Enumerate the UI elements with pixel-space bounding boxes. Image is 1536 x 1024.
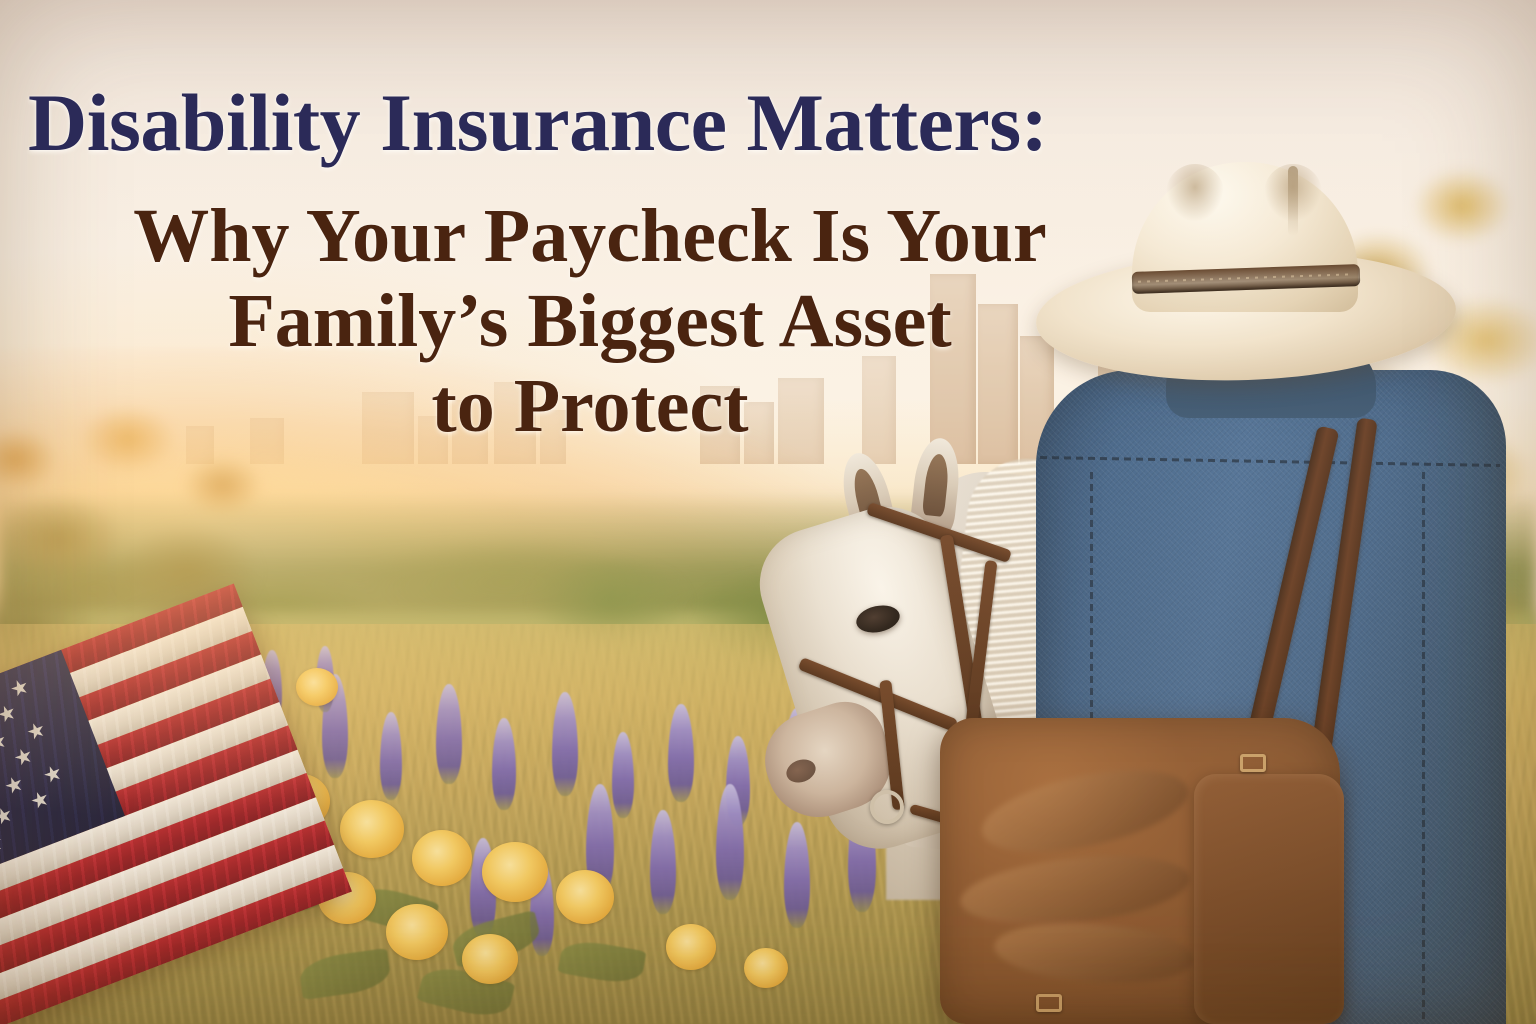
- satchel-side-flap: [1194, 774, 1344, 1024]
- hat-dent-left: [1166, 164, 1224, 222]
- satchel-buckle: [1036, 994, 1062, 1012]
- horse-ear-inner: [922, 453, 950, 517]
- satchel-buckle: [1240, 754, 1266, 772]
- jacket-side-seam: [1422, 472, 1425, 1024]
- hat-center-crease: [1288, 166, 1298, 236]
- bit-ring: [870, 790, 904, 824]
- poster-canvas: Disability Insurance Matters: Why Your P…: [0, 0, 1536, 1024]
- cowboy-hat: [1036, 156, 1456, 386]
- leather-satchel: [940, 718, 1340, 1024]
